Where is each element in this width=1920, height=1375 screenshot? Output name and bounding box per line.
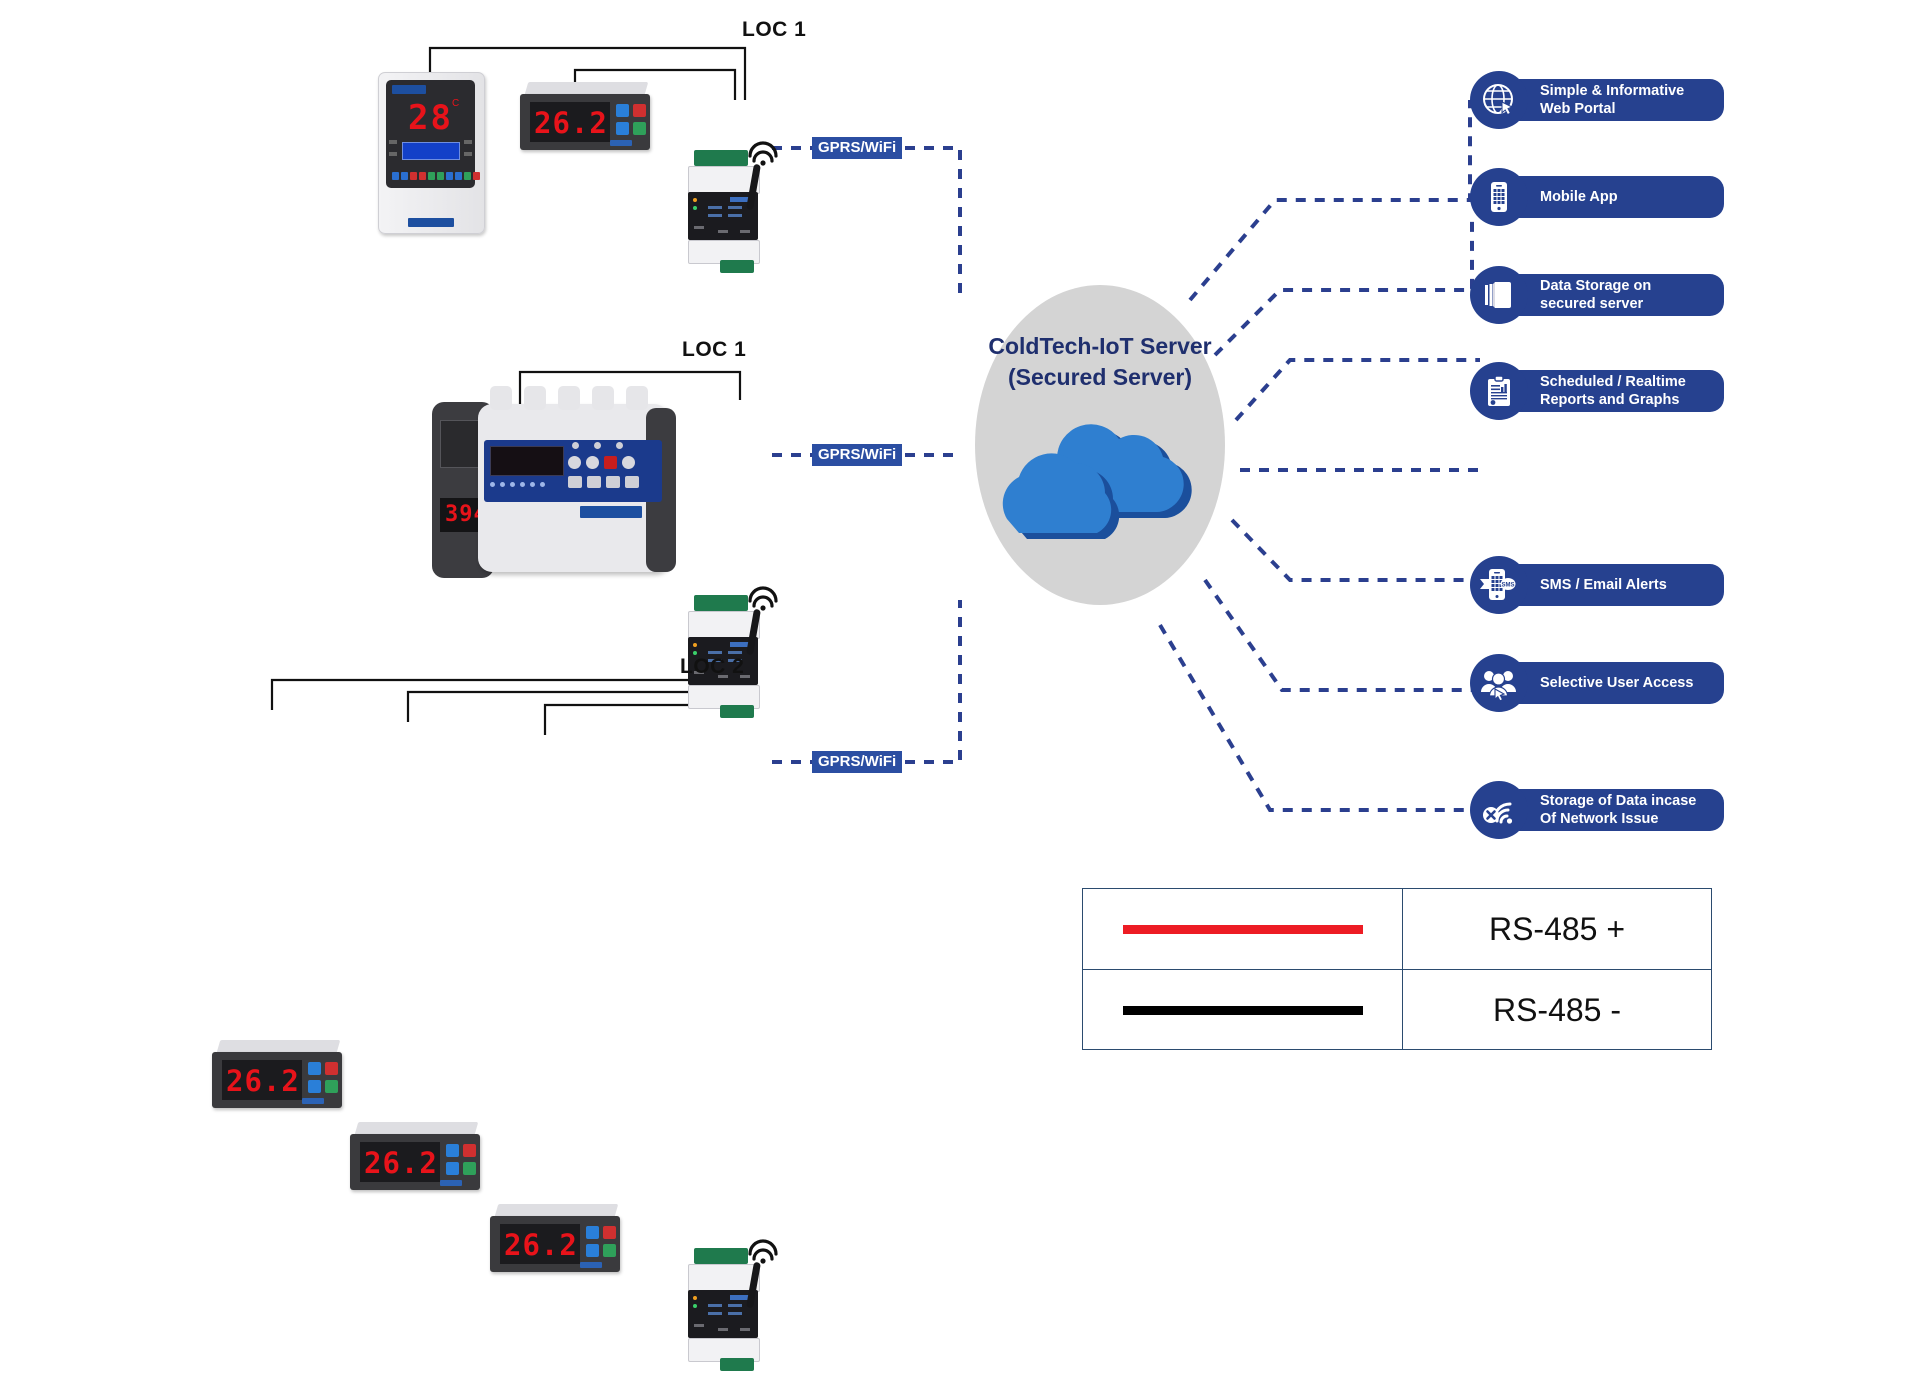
server-title: ColdTech-IoT Server (Secured Server) [975,331,1225,393]
cloud-server-node: ColdTech-IoT Server (Secured Server) [975,285,1225,605]
legend-table: RS-485 + RS-485 - [1082,888,1712,1050]
wall-controller-unit: C [452,98,459,109]
feature-selective-user-access[interactable]: Selective User Access [1470,654,1724,712]
panel-logo [440,1180,462,1186]
legend-row-rs485-plus: RS-485 + [1083,889,1711,969]
panel-logo [610,140,632,146]
mobile-phone-icon [1470,168,1528,226]
feature-reports-graphs[interactable]: Scheduled / Realtime Reports and Graphs [1470,362,1724,420]
gateway-loc2 [680,1240,775,1375]
side-key-left-2 [389,152,397,156]
wifi-waves-icon [740,575,786,611]
server-title-line2: (Secured Server) [975,362,1225,393]
terminal-block-bottom [720,705,754,718]
wall-controller-logo [408,218,454,227]
legend-swatch-red [1123,925,1363,934]
panel-alarm-button[interactable] [463,1144,476,1157]
feature-pill: Mobile App [1514,176,1724,218]
feature-sms-email-alerts[interactable]: SMS SMS / Email Alerts [1470,556,1724,614]
users-access-icon [1470,654,1528,712]
wall-controller-keypad[interactable] [392,172,480,180]
panel-display: 26.2 [364,1146,438,1180]
device-panel-controller-loc2-1: 26.2 [212,1040,342,1110]
keypad-row-2[interactable] [568,476,642,490]
feature-label: Simple & Informative Web Portal [1540,82,1684,118]
panel-display: 26.2 [534,106,608,140]
rs485-wiring-loc2 [272,680,742,735]
industrial-unit-brand [580,506,642,518]
sms-email-icon: SMS [1470,556,1528,614]
brand-chip [392,85,426,94]
feature-label: Selective User Access [1540,674,1693,692]
terminal-block-bottom [720,260,754,273]
legend-swatch-black [1123,1006,1363,1015]
wifi-waves-icon [740,1228,786,1264]
gateway-loc1-top [680,142,775,277]
main-display [490,446,564,476]
panel-alarm-button[interactable] [325,1062,338,1075]
legend-label: RS-485 - [1403,970,1711,1050]
panel-up-button[interactable] [616,104,629,117]
side-key-right [464,140,472,144]
wall-controller-lcd [402,142,460,160]
globe-cursor-icon [1470,71,1528,129]
panel-logo [580,1262,602,1268]
cloud-icon [987,413,1213,588]
side-key-right-2 [464,152,472,156]
panel-alarm-button[interactable] [603,1226,616,1239]
device-panel-controller-loc1: 26.2 [520,82,650,152]
keypad-row-1[interactable] [568,456,638,472]
legend-row-rs485-minus: RS-485 - [1083,969,1711,1050]
server-storage-icon [1470,266,1528,324]
svg-text:SMS: SMS [1501,583,1514,589]
panel-down-button[interactable] [616,122,629,135]
feature-pill: Storage of Data incase Of Network Issue [1514,789,1724,831]
panel-up-button[interactable] [308,1062,321,1075]
diagram-canvas: 28 C 26.2 [0,0,1920,1080]
panel-down-button[interactable] [308,1080,321,1093]
wifi-waves-icon [740,130,786,166]
legend-swatch-cell [1083,970,1403,1050]
side-key-left [389,140,397,144]
server-title-line1: ColdTech-IoT Server [975,331,1225,362]
feature-label: Scheduled / Realtime Reports and Graphs [1540,373,1686,409]
feature-data-storage[interactable]: Data Storage on secured server [1470,266,1724,324]
panel-down-button[interactable] [586,1244,599,1257]
gprs-badge-middle: GPRS/WiFi [812,444,902,466]
panel-set-button[interactable] [603,1244,616,1257]
feature-mobile-app[interactable]: Mobile App [1470,168,1724,226]
panel-set-button[interactable] [463,1162,476,1175]
feature-pill: Selective User Access [1514,662,1724,704]
feature-pill: Data Storage on secured server [1514,274,1724,316]
feature-offline-storage[interactable]: Storage of Data incase Of Network Issue [1470,781,1724,839]
feature-pill: Simple & Informative Web Portal [1514,79,1724,121]
legend-swatch-cell [1083,889,1403,969]
feature-pill: SMS / Email Alerts [1514,564,1724,606]
panel-up-button[interactable] [446,1144,459,1157]
terminal-block-bottom [720,1358,754,1371]
wall-controller-display: 28 [408,98,453,138]
indicator-strip [490,482,550,488]
loc-label-bottom: LOC 2 [680,655,744,679]
panel-alarm-button[interactable] [633,104,646,117]
panel-set-button[interactable] [325,1080,338,1093]
gprs-badge-top: GPRS/WiFi [812,137,902,159]
gprs-badge-bottom: GPRS/WiFi [812,751,902,773]
panel-logo [302,1098,324,1104]
device-panel-controller-loc2-2: 26.2 [350,1122,480,1192]
panel-down-button[interactable] [446,1162,459,1175]
loc-label-top: LOC 1 [742,18,806,42]
loc-label-middle: LOC 1 [682,338,746,362]
feature-label: Storage of Data incase Of Network Issue [1540,792,1696,828]
cable-glands [490,386,660,410]
feature-label: SMS / Email Alerts [1540,576,1667,594]
feature-label: Mobile App [1540,188,1618,206]
no-network-icon [1470,781,1528,839]
panel-up-button[interactable] [586,1226,599,1239]
feature-web-portal[interactable]: Simple & Informative Web Portal [1470,71,1724,129]
device-panel-controller-loc2-3: 26.2 [490,1204,620,1274]
panel-display: 26.2 [504,1228,578,1262]
clipboard-chart-icon [1470,362,1528,420]
panel-display: 26.2 [226,1064,300,1098]
wall-controller-face: 28 C [386,80,475,188]
feature-pill: Scheduled / Realtime Reports and Graphs [1514,370,1724,412]
legend-label: RS-485 + [1403,889,1711,969]
device-wall-controller-loc1: 28 C [378,72,485,234]
feature-label: Data Storage on secured server [1540,277,1651,313]
panel-set-button[interactable] [633,122,646,135]
status-leds [572,442,630,452]
device-industrial-unit-loc1: 394 [432,378,692,578]
